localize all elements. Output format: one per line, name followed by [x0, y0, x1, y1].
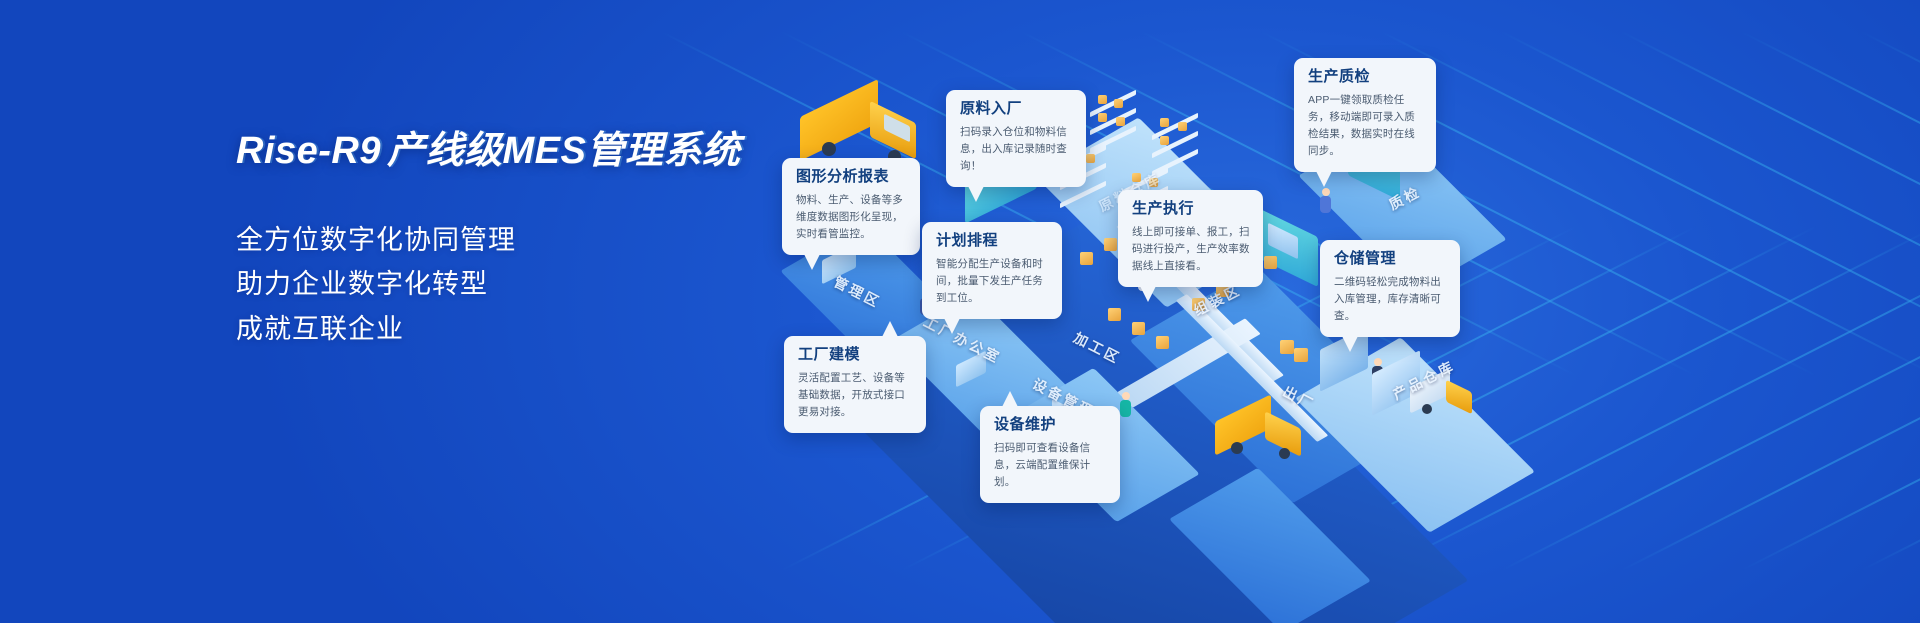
callout-title: 设备维护 — [994, 417, 1107, 434]
callout-body: 扫码即可查看设备信息，云端配置维保计划。 — [994, 440, 1107, 491]
callout-body: 灵活配置工艺、设备等基础数据，开放式接口更易对接。 — [798, 370, 913, 421]
callout-title: 工厂建模 — [798, 347, 913, 364]
callout-body: 物料、生产、设备等多维度数据图形化呈现，实时看管监控。 — [796, 192, 907, 243]
callout-body: 智能分配生产设备和时间，批量下发生产任务到工位。 — [936, 256, 1049, 307]
callout-body: APP一键领取质检任务，移动端即可录入质检结果，数据实时在线同步。 — [1308, 92, 1423, 160]
title-product-subtitle: 产线级MES管理系统 — [381, 130, 740, 172]
callout-title: 仓储管理 — [1334, 251, 1447, 268]
conveyor-crate — [1132, 322, 1145, 335]
hero-subtitle-group: 全方位数字化协同管理 助力企业数字化转型 成就互联企业 — [236, 218, 796, 352]
callout-tail — [804, 254, 820, 270]
conveyor-crate — [1104, 238, 1117, 251]
hero-banner: Rise-R9产线级MES管理系统 全方位数字化协同管理 助力企业数字化转型 成… — [0, 0, 1920, 623]
conveyor-crate — [1264, 256, 1277, 269]
hero-copy: Rise-R9产线级MES管理系统 全方位数字化协同管理 助力企业数字化转型 成… — [236, 128, 796, 351]
callout-tail — [1316, 171, 1332, 187]
callout-body: 二维码轻松完成物料出入库管理，库存清晰可查。 — [1334, 274, 1447, 325]
pallet-crate — [1280, 340, 1294, 354]
callout-body: 扫码录入仓位和物料信息，出入库记录随时查询！ — [960, 124, 1073, 175]
worker-figure — [1320, 188, 1334, 216]
callout-card-warehouse-management[interactable]: 仓储管理 二维码轻松完成物料出入库管理，库存清晰可查。 — [1320, 240, 1460, 337]
callout-card-material-inbound[interactable]: 原料入厂 扫码录入仓位和物料信息，出入库记录随时查询！ — [946, 90, 1086, 187]
callout-tail — [1342, 336, 1358, 352]
callout-card-factory-modeling[interactable]: 工厂建模 灵活配置工艺、设备等基础数据，开放式接口更易对接。 — [784, 336, 926, 433]
callout-card-production-execution[interactable]: 生产执行 线上即可接单、报工，扫码进行投产，生产效率数据线上直接看。 — [1118, 190, 1263, 287]
callout-title: 生产执行 — [1132, 201, 1250, 218]
callout-tail — [968, 186, 984, 202]
callout-tail — [1002, 391, 1018, 407]
conveyor-crate — [1080, 252, 1093, 265]
hero-subtitle-line-2: 助力企业数字化转型 — [236, 262, 796, 307]
pallet-crate — [1294, 348, 1308, 362]
callout-title: 原料入厂 — [960, 101, 1073, 118]
callout-card-quality-inspection[interactable]: 生产质检 APP一键领取质检任务，移动端即可录入质检结果，数据实时在线同步。 — [1294, 58, 1436, 172]
conveyor-crate — [1156, 336, 1169, 349]
callout-title: 生产质检 — [1308, 69, 1423, 86]
title-product-name: Rise-R9 — [236, 130, 381, 172]
callout-card-chart-report[interactable]: 图形分析报表 物料、生产、设备等多维度数据图形化呈现，实时看管监控。 — [782, 158, 920, 255]
worker-figure — [1120, 392, 1134, 422]
callout-card-plan-scheduling[interactable]: 计划排程 智能分配生产设备和时间，批量下发生产任务到工位。 — [922, 222, 1062, 319]
callout-tail — [1140, 286, 1156, 302]
conveyor-crate — [1108, 308, 1121, 321]
callout-body: 线上即可接单、报工，扫码进行投产，生产效率数据线上直接看。 — [1132, 224, 1250, 275]
page-title: Rise-R9产线级MES管理系统 — [236, 128, 796, 176]
hero-subtitle-line-3: 成就互联企业 — [236, 307, 796, 352]
callout-title: 图形分析报表 — [796, 169, 907, 186]
callout-tail — [882, 321, 898, 337]
callout-tail — [944, 318, 960, 334]
callout-card-equipment-maintenance[interactable]: 设备维护 扫码即可查看设备信息，云端配置维保计划。 — [980, 406, 1120, 503]
hero-subtitle-line-1: 全方位数字化协同管理 — [236, 218, 796, 263]
callout-title: 计划排程 — [936, 233, 1049, 250]
